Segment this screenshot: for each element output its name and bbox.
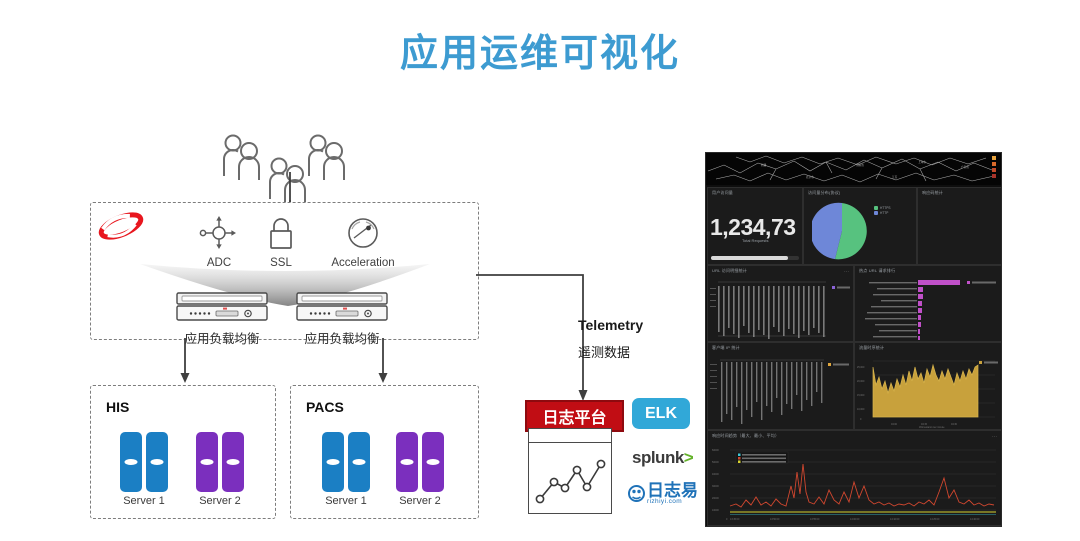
log-dashboard-screenshot[interactable]: 北京市上海市 河南省广东省 新疆江苏 用户访问量 1,234,73 Total …	[705, 152, 1002, 527]
svg-text:04:30: 04:30	[951, 423, 958, 426]
line-chart-window-icon	[529, 443, 611, 511]
feature-label: Acceleration	[308, 257, 418, 269]
rizhiyi-text: 日志易 rizhiyi.com	[647, 482, 698, 506]
user-group-3	[305, 132, 353, 182]
svg-text:25,000: 25,000	[857, 366, 865, 369]
total-requests-value: 1,234,73	[710, 214, 796, 241]
speedometer-gauge-icon	[346, 216, 380, 250]
feature-ssl: SSL	[252, 216, 310, 269]
response-time-line-chart: 600005000040000 300002000010000 0 13:45:…	[708, 442, 1001, 522]
server-bar	[322, 432, 344, 492]
server-pair-pacs-2: Server 2	[392, 432, 448, 507]
group-title-pacs: PACS	[306, 399, 344, 415]
group-title-his: HIS	[106, 399, 129, 415]
svg-text:30000: 30000	[712, 485, 719, 488]
server-bar	[222, 432, 244, 492]
panel-title: 用户访问量	[712, 190, 733, 196]
panel-title: 访问量分布(协议)	[808, 190, 840, 196]
server-bars	[116, 432, 172, 492]
svg-text:14:25:00: 14:25:00	[930, 518, 940, 521]
svg-text:10,000: 10,000	[857, 408, 865, 411]
server-bar	[146, 432, 168, 492]
legend-label: HTTP	[880, 211, 888, 216]
svg-text:北京市: 北京市	[806, 175, 814, 179]
svg-text:20,000: 20,000	[857, 380, 865, 383]
page-title: 应用运维可视化	[0, 22, 1080, 77]
svg-text:13:50:00: 13:50:00	[770, 518, 780, 521]
server-bar	[120, 432, 142, 492]
log-platform-chart-card	[528, 428, 612, 514]
panel-url-detail[interactable]: URL 访问明细统计 ···	[707, 265, 854, 342]
adc-to-his-arrow	[175, 338, 195, 384]
panel-response-time[interactable]: 响应时间趋势（最大、最小、平均） ··· 600005000040000 300…	[707, 430, 1002, 526]
telemetry-label-cn: 遥测数据	[578, 342, 630, 361]
panel-title: 响应码统计	[922, 190, 943, 196]
svg-text:13:45:00: 13:45:00	[730, 518, 740, 521]
user-pair-icon	[220, 132, 268, 182]
pie-legend: HTTPS HTTP	[874, 206, 890, 216]
rizhiyi-logo: 日志易 rizhiyi.com	[628, 482, 698, 506]
svg-text:14:40:00: 14:40:00	[970, 518, 980, 521]
panel-client-ip[interactable]: 客户端 IP 统计	[707, 342, 854, 430]
slide-canvas: 应用运维可视化	[0, 0, 1080, 541]
server-bars	[192, 432, 248, 492]
svg-text:上海市: 上海市	[918, 160, 926, 164]
adc-to-pacs-arrow	[373, 338, 393, 384]
panel-title: 热点 URL 请求排行	[859, 268, 895, 274]
feature-acceleration: Acceleration	[308, 216, 418, 269]
panel-protocol-pie[interactable]: 访问量分布(协议) HTTPS HTTP	[803, 187, 917, 265]
server-pair-his-1: Server 1	[116, 432, 172, 507]
legend-swatch	[874, 211, 878, 215]
pie-chart	[812, 201, 872, 261]
server-label: Server 2	[392, 495, 448, 507]
splunk-logo: splunk>	[632, 448, 693, 468]
rack-appliance-icon	[296, 292, 388, 322]
users-arrow-stem	[280, 172, 300, 204]
splunk-wordmark: splunk	[632, 448, 684, 467]
panel-title: 响应时间趋势（最大、最小、平均）	[712, 433, 779, 439]
svg-text:13:55:00: 13:55:00	[810, 518, 820, 521]
panel-menu-icon[interactable]: ···	[992, 434, 997, 440]
server-pair-his-2: Server 2	[192, 432, 248, 507]
elk-badge[interactable]: ELK	[632, 398, 690, 429]
area-chart: 25,00020,000 15,00010,000 0 04:0004:1504…	[855, 355, 1001, 428]
server-bar	[196, 432, 218, 492]
svg-text:15,000: 15,000	[857, 394, 865, 397]
feature-label: ADC	[190, 257, 248, 269]
server-label: Server 1	[116, 495, 172, 507]
panel-title: 流量时序统计	[859, 345, 884, 351]
legend-item: HTTP	[874, 211, 890, 216]
server-bar	[396, 432, 418, 492]
network-node-arrows-icon	[198, 216, 240, 250]
svg-text:40000: 40000	[712, 473, 719, 476]
svg-text:10000: 10000	[712, 509, 719, 512]
user-pair-icon	[305, 132, 353, 182]
panel-title: URL 访问明细统计	[712, 268, 747, 274]
rizhiyi-wordmark: 日志易	[647, 482, 698, 499]
feature-label: SSL	[252, 257, 310, 269]
padlock-icon	[266, 216, 296, 250]
splunk-chevron-icon: >	[684, 448, 693, 467]
svg-text:50000: 50000	[712, 461, 719, 464]
server-pair-pacs-1: Server 1	[318, 432, 374, 507]
dashboard-map-panel[interactable]: 北京市上海市 河南省广东省 新疆江苏	[706, 153, 1001, 185]
rack-appliance-icon	[176, 292, 268, 322]
panel-total-requests[interactable]: 用户访问量 1,234,73 Total Requests	[707, 187, 803, 265]
server-bar	[348, 432, 370, 492]
svg-text:0: 0	[726, 518, 728, 521]
server-bars	[392, 432, 448, 492]
svg-text:14:00:00: 14:00:00	[850, 518, 860, 521]
svg-text:江苏: 江苏	[892, 175, 898, 179]
log-text-grid	[708, 278, 853, 340]
legend-swatch	[874, 206, 878, 210]
svg-text:河南省: 河南省	[856, 163, 864, 167]
area-xlabel: @timestamp per minute	[919, 426, 945, 428]
panel-title: 客户端 IP 统计	[712, 345, 740, 351]
svg-text:新疆: 新疆	[761, 163, 767, 167]
telemetry-connector	[470, 268, 600, 403]
panel-menu-icon[interactable]: ···	[844, 269, 849, 275]
total-requests-caption: Total Requests	[742, 238, 768, 243]
server-label: Server 2	[192, 495, 248, 507]
server-label: Server 1	[318, 495, 374, 507]
rizhiyi-mark-icon	[628, 485, 645, 502]
user-group-1	[220, 132, 268, 182]
server-bar	[422, 432, 444, 492]
feature-icon-row: ADC SSL Acceleration	[190, 216, 430, 272]
svg-text:60000: 60000	[712, 449, 719, 452]
panel-status-codes[interactable]: 响应码统计	[917, 187, 1002, 265]
card-header-bar	[529, 429, 611, 443]
svg-text:0: 0	[860, 418, 862, 421]
svg-text:20000: 20000	[712, 497, 719, 500]
radware-swirl-logo	[95, 208, 147, 244]
server-bars	[318, 432, 374, 492]
panel-top-urls[interactable]: 热点 URL 请求排行	[854, 265, 1002, 342]
feature-adc: ADC	[190, 216, 248, 269]
log-text-grid	[708, 355, 853, 428]
geo-map-icon: 北京市上海市 河南省广东省 新疆江苏	[706, 153, 1001, 185]
svg-text:04:00: 04:00	[891, 423, 898, 426]
svg-text:14:10:00: 14:10:00	[890, 518, 900, 521]
svg-text:广东省: 广东省	[961, 165, 969, 169]
panel-scrollbar[interactable]	[711, 256, 799, 260]
horizontal-bar-chart	[855, 278, 1001, 340]
panel-throughput-area[interactable]: 流量时序统计 25,00020,000 15,00010,000 0 04:00…	[854, 342, 1002, 430]
telemetry-label-en: Telemetry	[578, 317, 643, 333]
